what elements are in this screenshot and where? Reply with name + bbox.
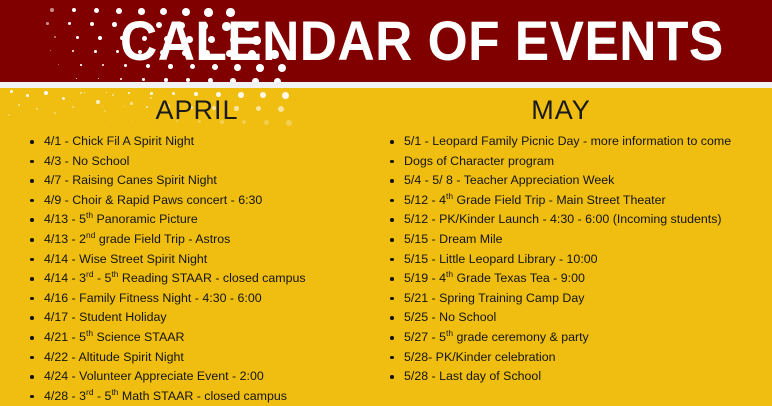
event-text: 5/4 - 5/ 8 - Teacher Appreciation Week — [404, 173, 614, 187]
bullet-icon — [390, 238, 394, 242]
bullet-icon — [390, 179, 394, 183]
event-text: 4/14 - Wise Street Spirit Night — [44, 252, 207, 266]
event-text: 5/28 - Last day of School — [404, 369, 541, 383]
event-text: 5/15 - Little Leopard Library - 10:00 — [404, 252, 598, 266]
event-text: 4/1 - Chick Fil A Spirit Night — [44, 134, 194, 148]
event-item: Dogs of Character program — [384, 152, 772, 172]
month-column-may: MAY 5/1 - Leopard Family Picnic Day - mo… — [370, 88, 772, 406]
event-item: 4/14 - Wise Street Spirit Night — [24, 250, 370, 270]
bullet-icon — [390, 336, 394, 340]
event-item: 5/27 - 5th grade ceremony & party — [384, 328, 772, 348]
event-text: 5/28- PK/Kinder celebration — [404, 350, 556, 364]
event-text: 4/21 - 5th Science STAAR — [44, 330, 184, 344]
event-text: 4/22 - Altitude Spirit Night — [44, 350, 184, 364]
event-item: 5/15 - Little Leopard Library - 10:00 — [384, 250, 772, 270]
bullet-icon — [30, 218, 34, 222]
bullet-icon — [390, 277, 394, 281]
bullet-icon — [390, 199, 394, 203]
event-text: 4/17 - Student Holiday — [44, 310, 167, 324]
bullet-icon — [390, 297, 394, 301]
bullet-icon — [390, 218, 394, 222]
event-item: 4/24 - Volunteer Appreciate Event - 2:00 — [24, 367, 370, 387]
bullet-icon — [390, 258, 394, 262]
event-text: 5/27 - 5th grade ceremony & party — [404, 330, 589, 344]
bullet-icon — [30, 258, 34, 262]
event-text: 4/9 - Choir & Rapid Paws concert - 6:30 — [44, 193, 262, 207]
event-item: 5/28- PK/Kinder celebration — [384, 348, 772, 368]
event-text: 4/13 - 2nd grade Field Trip - Astros — [44, 232, 230, 246]
bullet-icon — [30, 238, 34, 242]
event-text: 4/14 - 3rd - 5th Reading STAAR - closed … — [44, 271, 306, 285]
event-text: 5/1 - Leopard Family Picnic Day - more i… — [404, 134, 731, 148]
event-item: 5/1 - Leopard Family Picnic Day - more i… — [384, 132, 772, 152]
event-item: 4/21 - 5th Science STAAR — [24, 328, 370, 348]
event-text: 4/16 - Family Fitness Night - 4:30 - 6:0… — [44, 291, 262, 305]
event-item: 5/28 - Last day of School — [384, 367, 772, 387]
event-text: 5/19 - 4th Grade Texas Tea - 9:00 — [404, 271, 585, 285]
bullet-icon — [30, 395, 34, 399]
event-text: 4/24 - Volunteer Appreciate Event - 2:00 — [44, 369, 264, 383]
bullet-icon — [390, 316, 394, 320]
event-item: 4/16 - Family Fitness Night - 4:30 - 6:0… — [24, 289, 370, 309]
bullet-icon — [30, 356, 34, 360]
event-text: 5/21 - Spring Training Camp Day — [404, 291, 584, 305]
event-item: 5/4 - 5/ 8 - Teacher Appreciation Week — [384, 171, 772, 191]
event-item: 4/1 - Chick Fil A Spirit Night — [24, 132, 370, 152]
calendar-of-events-page: CALENDAR OF EVENTS APRIL 4/1 - Chick Fil… — [0, 0, 772, 406]
event-text: Dogs of Character program — [404, 154, 554, 168]
event-item: 4/13 - 5th Panoramic Picture — [24, 210, 370, 230]
event-item: 5/12 - PK/Kinder Launch - 4:30 - 6:00 (I… — [384, 210, 772, 230]
event-text: 4/28 - 3rd - 5th Math STAAR - closed cam… — [44, 389, 287, 403]
event-item: 5/21 - Spring Training Camp Day — [384, 289, 772, 309]
bullet-icon — [30, 316, 34, 320]
bullet-icon — [390, 160, 394, 164]
event-text: 4/7 - Raising Canes Spirit Night — [44, 173, 217, 187]
event-item: 4/17 - Student Holiday — [24, 308, 370, 328]
bullet-icon — [30, 179, 34, 183]
bullet-icon — [390, 140, 394, 144]
event-list-may: 5/1 - Leopard Family Picnic Day - more i… — [384, 132, 772, 387]
header-banner: CALENDAR OF EVENTS — [0, 0, 772, 82]
event-item: 4/28 - 3rd - 5th Math STAAR - closed cam… — [24, 387, 370, 406]
bullet-icon — [30, 160, 34, 164]
bullet-icon — [30, 375, 34, 379]
bullet-icon — [30, 140, 34, 144]
calendar-body: APRIL 4/1 - Chick Fil A Spirit Night4/3 … — [0, 88, 772, 406]
event-text: 5/12 - PK/Kinder Launch - 4:30 - 6:00 (I… — [404, 212, 722, 226]
event-item: 4/7 - Raising Canes Spirit Night — [24, 171, 370, 191]
bullet-icon — [30, 297, 34, 301]
month-heading-may: MAY — [384, 88, 772, 132]
event-item: 5/15 - Dream Mile — [384, 230, 772, 250]
event-item: 5/25 - No School — [384, 308, 772, 328]
event-item: 4/22 - Altitude Spirit Night — [24, 348, 370, 368]
event-text: 4/13 - 5th Panoramic Picture — [44, 212, 198, 226]
event-item: 4/9 - Choir & Rapid Paws concert - 6:30 — [24, 191, 370, 211]
bullet-icon — [390, 356, 394, 360]
bullet-icon — [390, 375, 394, 379]
page-title: CALENDAR OF EVENTS — [31, 0, 741, 82]
event-item: 5/19 - 4th Grade Texas Tea - 9:00 — [384, 269, 772, 289]
bullet-icon — [30, 199, 34, 203]
event-item: 4/3 - No School — [24, 152, 370, 172]
event-text: 5/15 - Dream Mile — [404, 232, 502, 246]
event-list-april: 4/1 - Chick Fil A Spirit Night4/3 - No S… — [24, 132, 370, 406]
month-column-april: APRIL 4/1 - Chick Fil A Spirit Night4/3 … — [0, 88, 370, 406]
event-item: 5/12 - 4th Grade Field Trip - Main Stree… — [384, 191, 772, 211]
event-item: 4/13 - 2nd grade Field Trip - Astros — [24, 230, 370, 250]
event-text: 4/3 - No School — [44, 154, 129, 168]
event-text: 5/25 - No School — [404, 310, 496, 324]
bullet-icon — [30, 336, 34, 340]
month-heading-april: APRIL — [24, 88, 370, 132]
bullet-icon — [30, 277, 34, 281]
event-item: 4/14 - 3rd - 5th Reading STAAR - closed … — [24, 269, 370, 289]
event-text: 5/12 - 4th Grade Field Trip - Main Stree… — [404, 193, 666, 207]
